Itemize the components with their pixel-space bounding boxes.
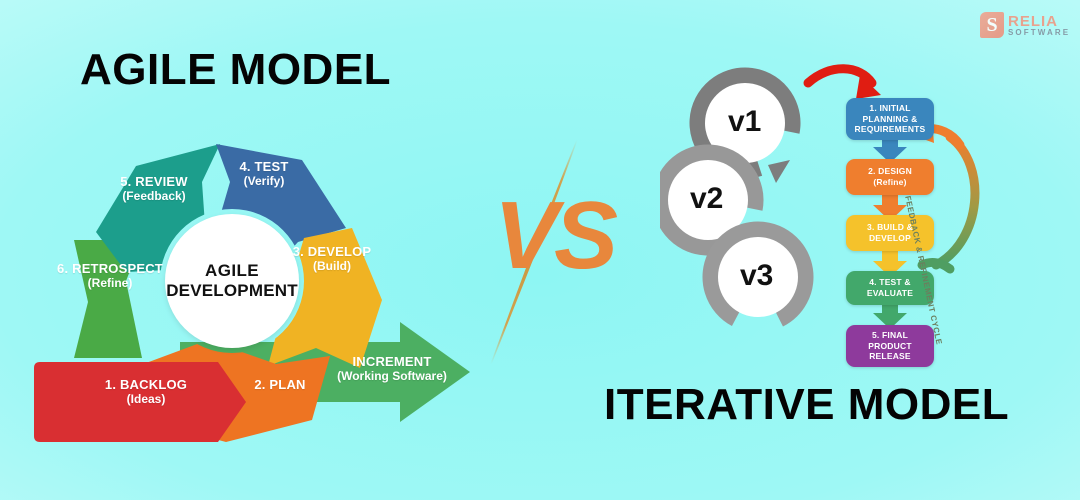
- version-label-v3: v3: [740, 259, 773, 293]
- iterative-step-4-line1: 4. TEST &: [869, 277, 910, 287]
- logo-brand-name: RELIA: [1008, 14, 1070, 29]
- iterative-step-1-line1: 1. INITIAL: [869, 103, 910, 113]
- version-label-v1: v1: [728, 105, 761, 139]
- logo-mark-icon: S: [980, 12, 1004, 38]
- infographic-canvas: S RELIA SOFTWARE AGILE MODEL ITERATIVE M…: [0, 0, 1080, 500]
- agile-hub-line1: AGILE: [205, 261, 259, 281]
- iterative-step-5-line1: 5. FINAL: [872, 330, 908, 340]
- relia-software-logo: S RELIA SOFTWARE: [980, 8, 1072, 42]
- version-label-v2: v2: [690, 182, 723, 216]
- iterative-step-2-line1: 2. DESIGN: [868, 166, 912, 176]
- iterative-step-5: 5. FINAL PRODUCT RELEASE: [846, 325, 934, 367]
- iterative-model-diagram: v1 v2 v3 1. INITIAL PLANNING & REQUIREME…: [660, 55, 1020, 375]
- iterative-step-3-line2: DEVELOP: [869, 233, 911, 243]
- logo-letter: S: [980, 12, 1004, 38]
- iterative-step-3-line1: 3. BUILD &: [867, 222, 913, 232]
- versus-label: VS: [494, 188, 614, 284]
- agile-hub-line2: DEVELOPMENT: [166, 281, 298, 301]
- iterative-step-1-line2: PLANNING &: [863, 114, 918, 124]
- logo-wordmark: RELIA SOFTWARE: [1008, 14, 1070, 37]
- iterative-step-1-line3: REQUIREMENTS: [855, 124, 926, 134]
- logo-brand-sub: SOFTWARE: [1008, 29, 1070, 37]
- agile-model-diagram: AGILE DEVELOPMENT 1. BACKLOG (Ideas) 2. …: [30, 120, 500, 450]
- iterative-model-title: ITERATIVE MODEL: [604, 383, 1009, 427]
- agile-model-title: AGILE MODEL: [80, 48, 391, 92]
- agile-hub: AGILE DEVELOPMENT: [165, 214, 299, 348]
- iterative-step-2-line2: (Refine): [873, 177, 906, 187]
- iterative-step-5-line2: PRODUCT: [868, 341, 911, 351]
- entry-arrow-icon: [808, 69, 881, 99]
- segment-backlog-shape: [34, 362, 246, 442]
- iterative-step-1: 1. INITIAL PLANNING & REQUIREMENTS: [846, 98, 934, 140]
- iterative-step-4-line2: EVALUATE: [867, 288, 913, 298]
- iterative-step-5-line3: RELEASE: [869, 351, 911, 361]
- iterative-step-2: 2. DESIGN (Refine): [846, 159, 934, 195]
